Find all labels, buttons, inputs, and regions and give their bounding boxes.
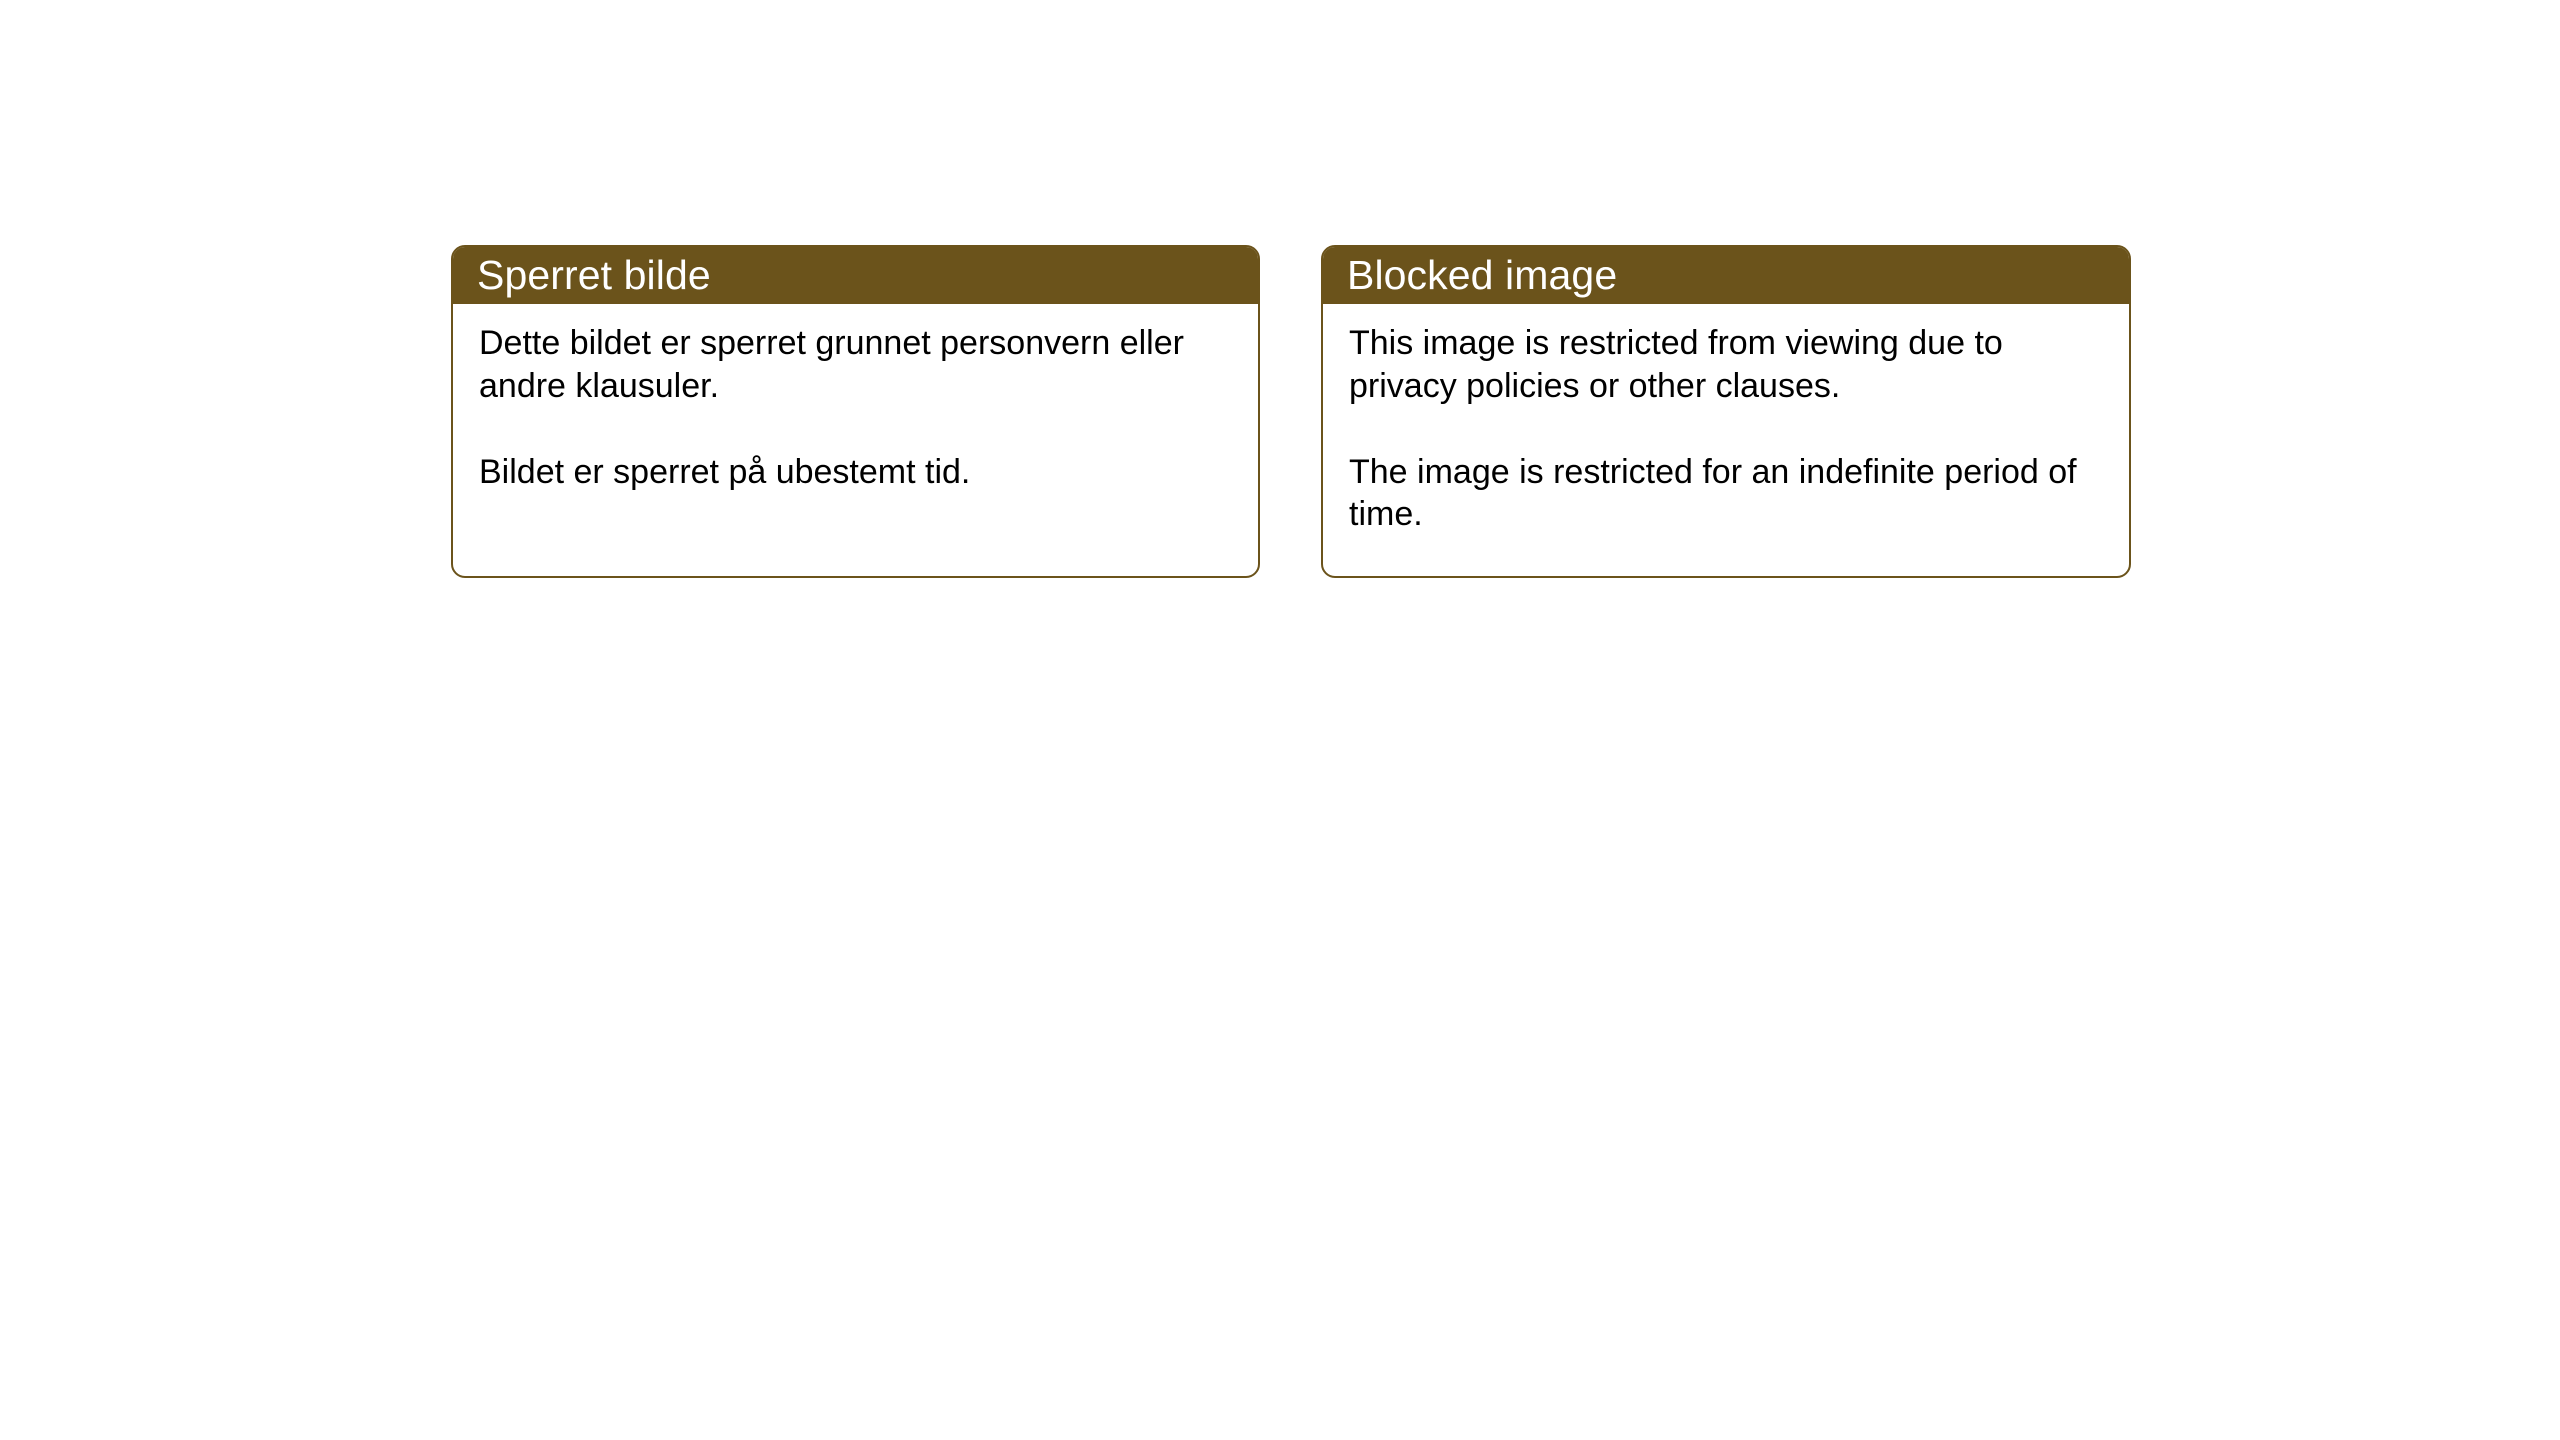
notice-paragraph-reason-en: This image is restricted from viewing du…	[1349, 322, 2085, 408]
panel-body-en: This image is restricted from viewing du…	[1323, 304, 2105, 536]
notice-paragraph-duration-no: Bildet er sperret på ubestemt tid.	[479, 451, 1193, 494]
panel-body-no: Dette bildet er sperret grunnet personve…	[453, 304, 1213, 493]
panel-title-no: Sperret bilde	[453, 247, 1258, 304]
blocked-image-notice-en: Blocked image This image is restricted f…	[1321, 245, 2131, 578]
notice-paragraph-reason-no: Dette bildet er sperret grunnet personve…	[479, 322, 1193, 408]
blocked-image-notice-no: Sperret bilde Dette bildet er sperret gr…	[451, 245, 1260, 578]
notice-paragraph-duration-en: The image is restricted for an indefinit…	[1349, 451, 2085, 537]
panel-title-en: Blocked image	[1323, 247, 2129, 304]
page-canvas: Sperret bilde Dette bildet er sperret gr…	[0, 0, 2560, 1440]
